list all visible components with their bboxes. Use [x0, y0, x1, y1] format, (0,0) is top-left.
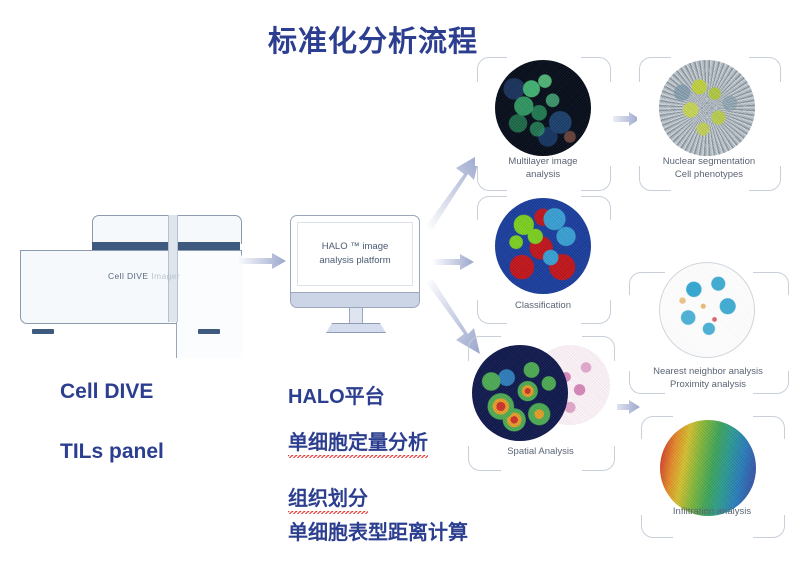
monitor-text-line2: analysis platform: [319, 254, 390, 268]
caption-nuclear-line1: Nuclear segmentation: [636, 156, 782, 169]
caption-multilayer-line1: Multilayer image: [477, 156, 609, 169]
caption-infiltration-line1: Infiltration analysis: [641, 506, 783, 519]
monitor-stand-neck: [349, 308, 363, 324]
caption-nearest: Nearest neighbor analysis Proximity anal…: [622, 366, 793, 392]
micrograph-nearest-neighbor: [659, 262, 755, 358]
caption-nuclear-line2: Cell phenotypes: [636, 169, 782, 182]
micrograph-classification: [495, 198, 591, 294]
caption-infiltration: Infiltration analysis: [641, 506, 783, 519]
arrow-multilayer-to-nuclear: [612, 112, 640, 126]
instrument-seam: [168, 215, 178, 322]
caption-classification-line1: Classification: [477, 300, 609, 313]
caption-multilayer-line2: analysis: [477, 169, 609, 182]
arrow-monitor-to-classification: [432, 254, 474, 270]
label-phenotype-distance: 单细胞表型距离计算: [288, 516, 468, 545]
monitor-bezel: HALO ™ image analysis platform: [290, 215, 420, 293]
caption-spatial: Spatial Analysis: [468, 446, 613, 459]
caption-nearest-line2: Proximity analysis: [622, 379, 793, 392]
instrument-model-text: Imager: [151, 271, 180, 281]
micrograph-spatial-heatmap: [472, 345, 568, 441]
label-single-cell-quant: 单细胞定量分析: [288, 426, 428, 458]
instrument-foot-left: [32, 329, 54, 334]
instrument-body: [20, 250, 242, 324]
instrument-brand-label: Cell DIVE Imager: [108, 271, 180, 281]
caption-nuclear: Nuclear segmentation Cell phenotypes: [636, 156, 782, 182]
page-title: 标准化分析流程: [268, 18, 528, 60]
monitor-screen-text: HALO ™ image analysis platform: [319, 240, 390, 268]
instrument-side-panel: [176, 251, 242, 358]
instrument-brand-text: Cell DIVE: [108, 271, 148, 281]
micrograph-infiltration: [660, 420, 756, 516]
label-halo-platform: HALO平台: [288, 380, 385, 409]
arrow-instrument-to-monitor: [236, 253, 286, 269]
caption-multilayer: Multilayer image analysis: [477, 156, 609, 182]
caption-classification: Classification: [477, 300, 609, 313]
label-cell-dive: Cell DIVE: [60, 380, 153, 404]
monitor-stand-base: [326, 323, 386, 333]
monitor-text-line1: HALO ™ image: [319, 240, 390, 254]
cell-dive-instrument: Cell DIVE Imager: [20, 215, 240, 330]
halo-monitor: HALO ™ image analysis platform: [290, 215, 420, 330]
label-tils-panel: TILs panel: [60, 440, 164, 464]
caption-spatial-line1: Spatial Analysis: [468, 446, 613, 459]
instrument-top-shell: [92, 215, 242, 244]
monitor-chin: [290, 292, 420, 308]
micrograph-nuclear-segmentation: [659, 60, 755, 156]
label-tissue-segmentation: 组织划分: [288, 482, 368, 514]
instrument-foot-right: [198, 329, 220, 334]
micrograph-multilayer: [495, 60, 591, 156]
monitor-screen: HALO ™ image analysis platform: [297, 222, 413, 286]
caption-nearest-line1: Nearest neighbor analysis: [622, 366, 793, 379]
